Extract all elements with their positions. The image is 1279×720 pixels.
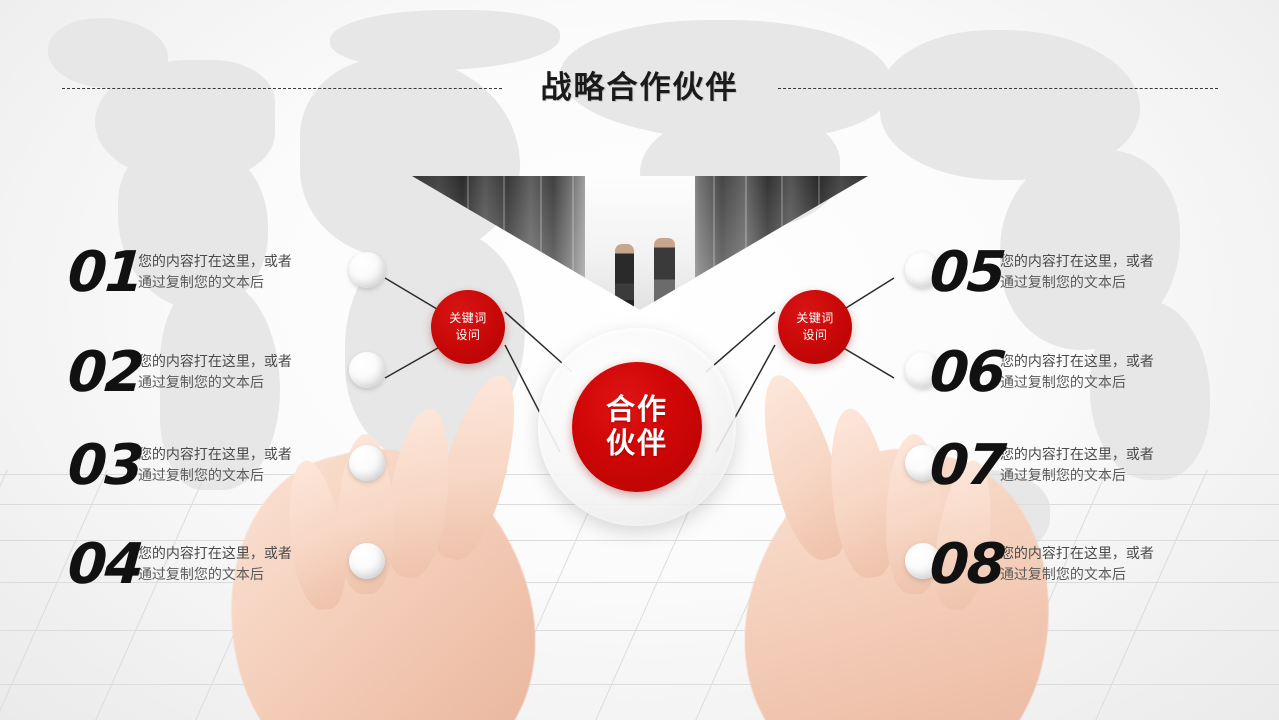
item-text-04: 您的内容打在这里，或者 通过复制您的文本后	[138, 544, 292, 586]
item-text-02: 您的内容打在这里，或者 通过复制您的文本后	[138, 352, 292, 394]
item-text-05: 您的内容打在这里，或者 通过复制您的文本后	[1000, 252, 1154, 294]
keyword-left-line1: 关键词	[449, 310, 487, 327]
item-05-line2: 通过复制您的文本后	[1000, 273, 1154, 294]
item-text-01: 您的内容打在这里，或者 通过复制您的文本后	[138, 252, 292, 294]
list-item-04[interactable]: 04 您的内容打在这里，或者 通过复制您的文本后	[68, 537, 292, 593]
slide-canvas: 战略合作伙伴	[0, 0, 1279, 720]
item-01-line1: 您的内容打在这里，或者	[138, 252, 292, 273]
keyword-bubble-left[interactable]: 关键词 设问	[431, 290, 505, 364]
item-06-line2: 通过复制您的文本后	[1000, 373, 1154, 394]
keyword-right-line2: 设问	[802, 327, 827, 344]
center-emblem[interactable]: 合作 伙伴	[538, 328, 736, 526]
item-number-05: 05	[928, 245, 1006, 301]
item-04-line2: 通过复制您的文本后	[138, 565, 292, 586]
keyword-right-line1: 关键词	[796, 310, 834, 327]
item-07-line1: 您的内容打在这里，或者	[1000, 445, 1154, 466]
item-text-03: 您的内容打在这里，或者 通过复制您的文本后	[138, 445, 292, 487]
list-item-01[interactable]: 01 您的内容打在这里，或者 通过复制您的文本后	[68, 245, 292, 301]
item-08-line1: 您的内容打在这里，或者	[1000, 544, 1154, 565]
keyword-bubble-right[interactable]: 关键词 设问	[778, 290, 852, 364]
list-item-05[interactable]: 05 您的内容打在这里，或者 通过复制您的文本后	[930, 245, 1154, 301]
item-02-line2: 通过复制您的文本后	[138, 373, 292, 394]
center-circle[interactable]: 合作 伙伴	[572, 362, 702, 492]
item-number-02: 02	[66, 345, 144, 401]
item-number-06: 06	[928, 345, 1006, 401]
pearl-bullet-04[interactable]	[349, 543, 385, 579]
item-number-07: 07	[928, 438, 1006, 494]
list-item-02[interactable]: 02 您的内容打在这里，或者 通过复制您的文本后	[68, 345, 292, 401]
item-text-06: 您的内容打在这里，或者 通过复制您的文本后	[1000, 352, 1154, 394]
item-number-01: 01	[66, 245, 144, 301]
pearl-bullet-01[interactable]	[349, 252, 385, 288]
item-03-line2: 通过复制您的文本后	[138, 466, 292, 487]
list-item-08[interactable]: 08 您的内容打在这里，或者 通过复制您的文本后	[930, 537, 1154, 593]
keyword-left-line2: 设问	[455, 327, 480, 344]
item-01-line2: 通过复制您的文本后	[138, 273, 292, 294]
list-item-06[interactable]: 06 您的内容打在这里，或者 通过复制您的文本后	[930, 345, 1154, 401]
item-text-07: 您的内容打在这里，或者 通过复制您的文本后	[1000, 445, 1154, 487]
item-number-08: 08	[928, 537, 1006, 593]
center-label-line1: 合作	[606, 393, 668, 427]
pearl-bullet-03[interactable]	[349, 445, 385, 481]
item-04-line1: 您的内容打在这里，或者	[138, 544, 292, 565]
item-02-line1: 您的内容打在这里，或者	[138, 352, 292, 373]
pearl-bullet-02[interactable]	[349, 352, 385, 388]
item-number-03: 03	[66, 438, 144, 494]
item-05-line1: 您的内容打在这里，或者	[1000, 252, 1154, 273]
item-number-04: 04	[66, 537, 144, 593]
item-06-line1: 您的内容打在这里，或者	[1000, 352, 1154, 373]
list-item-03[interactable]: 03 您的内容打在这里，或者 通过复制您的文本后	[68, 438, 292, 494]
list-item-07[interactable]: 07 您的内容打在这里，或者 通过复制您的文本后	[930, 438, 1154, 494]
item-08-line2: 通过复制您的文本后	[1000, 565, 1154, 586]
item-text-08: 您的内容打在这里，或者 通过复制您的文本后	[1000, 544, 1154, 586]
center-label-line2: 伙伴	[606, 427, 668, 461]
item-07-line2: 通过复制您的文本后	[1000, 466, 1154, 487]
item-03-line1: 您的内容打在这里，或者	[138, 445, 292, 466]
